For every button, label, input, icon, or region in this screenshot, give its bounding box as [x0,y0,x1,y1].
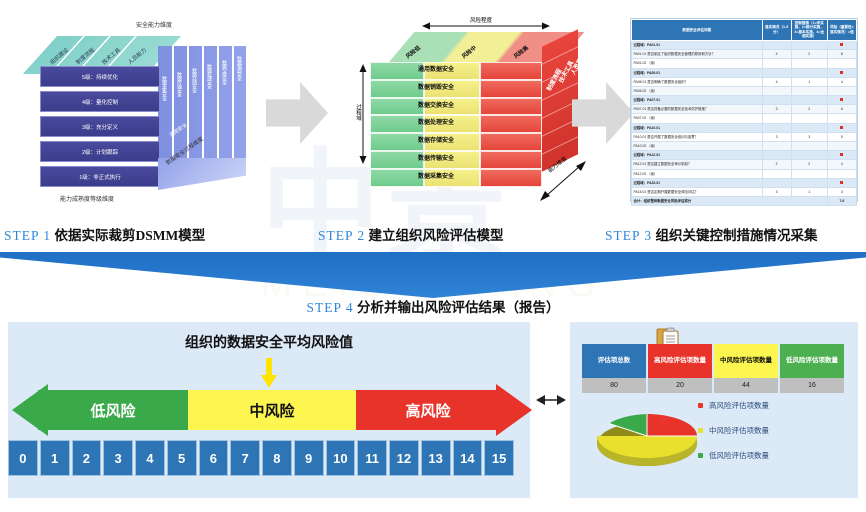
dsmm-bottom-caption: 能力成熟度等级维度 [60,194,114,203]
risk-flag-icon [840,98,843,101]
assessment-item-row[interactable]: PA07.01 是否具备必要的数据安全技术防护措施？326 [632,105,857,114]
assessment-cell-c2: 1 [791,77,827,86]
assessment-cell-c1: 2 [762,160,791,169]
assessment-cell-c2 [791,142,827,151]
risk-cube-row [370,169,542,187]
risk-cube-row [370,115,542,133]
assessment-cell-c3 [827,68,856,77]
assessment-cell-c2: 2 [791,50,827,59]
assessment-cell-c1 [762,114,791,123]
stat-box-value-3: 16 [780,378,844,393]
stat-box-label-1: 高风险评估项数量 [648,344,712,378]
assessment-item-row[interactable]: PA05.02 （续） [632,86,857,95]
risk-scale-cell-15[interactable]: 15 [484,440,514,476]
slide-root: 中景 MEIQIHUANG 安全能力维度 组织建设 制度流程 技术工具 人员能力… [0,0,866,512]
stat-box-0[interactable]: 评估项总数80 [582,344,646,393]
assessment-footer-value: 7.6 [827,197,856,206]
assessment-cell-c1 [762,142,791,151]
stat-boxes-row: 评估项总数80高风险评估项数量20中风险评估项数量44低风险评估项数量16 [582,344,846,393]
assessment-cell-question: PA10.01 是否开展了数据安全培训与宣贯？ [632,132,763,141]
dsmm-process-dim-2: 数据存储安全 [191,68,198,92]
legend-item-1[interactable]: 中风险评估项数量 [698,425,769,436]
assessment-item-row[interactable]: PA01.01 是否制定了组织数据安全管理的原则和方针？428 [632,50,857,59]
assessment-cell-question: 过程域：PA01.01 [632,40,763,49]
assessment-item-row[interactable]: PA10.01 是否开展了数据安全培训与宣贯？339 [632,132,857,141]
assessment-cell-c2 [791,96,827,105]
assessment-cell-c3 [827,142,856,151]
assessment-cell-c2: 2 [791,105,827,114]
risk-scale-cell-4[interactable]: 4 [135,440,165,476]
assessment-cell-c1 [762,123,791,132]
risk-distribution-panel: 评估项总数80高风险评估项数量20中风险评估项数量44低风险评估项数量16 高风… [570,322,858,498]
assessment-cell-question: 过程域：PA12.01 [632,151,763,160]
assessment-cell-c2 [791,68,827,77]
assessment-col-question: 数据安全评估问题 [632,20,763,41]
risk-scale-cell-1[interactable]: 1 [40,440,70,476]
assessment-cell-c1: 3 [762,132,791,141]
risk-cube-row-label-5: 数据传输安全 [418,151,454,169]
assessment-col-risk: 风险（重要性×落实情况）=值 [827,20,856,41]
assessment-cell-c3: 3 [827,187,856,196]
legend-item-0[interactable]: 高风险评估项数量 [698,400,769,411]
risk-cube-row [370,80,542,98]
assessment-cell-c1: 4 [762,50,791,59]
assessment-cell-question: PA05.01 是否明确了数据安全组织？ [632,77,763,86]
risk-flag-icon [840,126,843,129]
step-3-text: 组织关键控制措施情况采集 [656,228,818,243]
assessment-cell-question: PA05.02 （续） [632,86,763,95]
step-labels-row: STEP 1 依据实际裁剪DSMM模型 STEP 2 建立组织风险评估模型 ST… [0,224,866,250]
stat-box-label-3: 低风险评估项数量 [780,344,844,378]
assessment-table-header-row: 数据安全评估问题 落实情况（1-5分） 控制措施（1=未实施，2=部分实施，3=… [632,20,857,41]
assessment-cell-question: PA12.01 是否建立数据安全审计机制？ [632,160,763,169]
risk-cube-depth-axis: 能力维度 [538,158,588,204]
dsmm-level-4: 4级：量化控制 [40,91,160,112]
risk-band-high: 高风险 [356,390,500,430]
legend-swatch-icon [698,428,703,433]
assessment-cell-question: 过程域：PA10.01 [632,123,763,132]
step-label-4: STEP 4 分析并输出风险评估结果（报告） [306,296,559,316]
stat-box-value-0: 80 [582,378,646,393]
legend-swatch-icon [698,403,703,408]
assessment-cell-c3: 4 [827,77,856,86]
assessment-cell-c2 [791,151,827,160]
stat-box-3[interactable]: 低风险评估项数量16 [780,344,844,393]
risk-scale-cell-0[interactable]: 0 [8,440,38,476]
assessment-cell-c1 [762,40,791,49]
legend-swatch-icon [698,453,703,458]
section-divider-chevron [0,252,866,298]
assessment-col-importance: 落实情况（1-5分） [762,20,791,41]
assessment-table-footer-row: 合计：组织整体数据安全风险评估得分 7.6 [632,197,857,206]
risk-scale-cell-7[interactable]: 7 [230,440,260,476]
risk-scale-cell-12[interactable]: 12 [389,440,419,476]
assessment-cell-c3 [827,178,856,187]
stat-box-label-0: 评估项总数 [582,344,646,378]
step-3-keyword: STEP 3 [605,228,652,243]
assessment-col-control: 控制措施（1=未实施，2=部分实施，3=基本实施，4=全面实施） [791,20,827,41]
dsmm-process-dim-3: 数据处理安全 [206,64,213,88]
legend-label-1: 中风险评估项数量 [709,425,769,436]
dsmm-process-dim-0: 数据采集安全 [161,76,168,100]
stat-box-value-1: 20 [648,378,712,393]
risk-flag-icon [840,153,843,156]
assessment-cell-c3 [827,96,856,105]
assessment-item-row[interactable]: PA12.02 （续） [632,169,857,178]
stat-box-1[interactable]: 高风险评估项数量20 [648,344,712,393]
risk-scale-cell-6[interactable]: 6 [199,440,229,476]
risk-flag-icon [840,43,843,46]
assessment-item-row[interactable]: PA05.01 是否明确了数据安全组织？414 [632,77,857,86]
assessment-item-row[interactable]: PA01.02 （续） [632,59,857,68]
risk-cube-diagram: 风险程度 过程域 风险低 风险中 风险高 [352,8,582,208]
step-2-text: 建立组织风险评估模型 [369,228,504,243]
dsmm-level-3: 3级：充分定义 [40,116,160,137]
risk-pie-chart [588,394,706,474]
step-label-1: STEP 1 依据实际裁剪DSMM模型 [4,224,205,244]
assessment-cell-c2 [791,123,827,132]
high-risk-arrow-head-icon [496,384,532,436]
stat-box-value-2: 44 [714,378,778,393]
stat-box-2[interactable]: 中风险评估项数量44 [714,344,778,393]
dsmm-level-2: 2级：计划跟踪 [40,141,160,162]
assessment-cell-c3 [827,151,856,160]
risk-scale-cell-13[interactable]: 13 [421,440,451,476]
assessment-cell-c3 [827,114,856,123]
assessment-cell-c1 [762,151,791,160]
risk-cube-row [370,151,542,169]
dsmm-process-dim-1: 数据传输安全 [176,72,183,96]
dsmm-top-caption: 安全能力维度 [136,20,172,29]
risk-cube-row-label-2: 数据交换安全 [418,98,454,116]
step-2-keyword: STEP 2 [318,228,365,243]
risk-cube-front-face: 通用数据安全 数据销毁安全 数据交换安全 数据处理安全 数据存储安全 数据传输安… [370,62,542,187]
assessment-cell-question: PA15.01 是否定期开展数据安全风险评估？ [632,187,763,196]
risk-pie-legend: 高风险评估项数量中风险评估项数量低风险评估项数量 [698,400,769,475]
risk-scale-cell-11[interactable]: 11 [357,440,387,476]
legend-label-0: 高风险评估项数量 [709,400,769,411]
assessment-cell-question: PA07.01 是否具备必要的数据安全技术防护措施？ [632,105,763,114]
assessment-table-panel[interactable]: 数据安全评估问题 落实情况（1-5分） 控制措施（1=未实施，2=部分实施，3=… [630,18,858,202]
assessment-item-row[interactable]: PA10.02 （续） [632,142,857,151]
risk-scale-row[interactable]: 0123456789101112131415 [8,440,514,476]
legend-label-2: 低风险评估项数量 [709,450,769,461]
assessment-cell-c1 [762,169,791,178]
assessment-cell-c1 [762,178,791,187]
risk-cube-row-label-6: 数据采集安全 [418,169,454,187]
assessment-cell-c1: 3 [762,105,791,114]
assessment-cell-c3 [827,40,856,49]
assessment-footer-label: 合计：组织整体数据安全风险评估得分 [632,197,828,206]
assessment-cell-c2 [791,178,827,187]
assessment-cell-c2 [791,169,827,178]
risk-scale-cell-9[interactable]: 9 [294,440,324,476]
dsmm-process-dim-4: 数据交换安全 [221,60,228,84]
assessment-cell-c3 [827,169,856,178]
dsmm-level-1: 1级：非正式执行 [40,166,160,187]
assessment-cell-question: PA07.02 （续） [632,114,763,123]
risk-cube-top-axis-label: 风险程度 [468,16,494,24]
step-label-3: STEP 3 组织关键控制措施情况采集 [605,224,818,244]
dsmm-cube-diagram: 安全能力维度 组织建设 制度流程 技术工具 人员能力 数据采集安全 数据传输安全… [18,8,258,208]
assessment-cell-c1: 4 [762,77,791,86]
risk-band-mid: 中风险 [188,390,356,430]
assessment-item-row[interactable]: PA07.02 （续） [632,114,857,123]
dsmm-level-5: 5级：持续优化 [40,66,160,87]
risk-cube-row-label-1: 数据销毁安全 [418,80,454,98]
risk-scale-cell-2[interactable]: 2 [72,440,102,476]
legend-item-2[interactable]: 低风险评估项数量 [698,450,769,461]
step-labels-row-2: STEP 4 分析并输出风险评估结果（报告） [0,296,866,317]
assessment-cell-c2: 3 [791,132,827,141]
assessment-group-row[interactable]: 过程域：PA05.01 [632,68,857,77]
risk-flag-icon [840,181,843,184]
assessment-cell-question: PA01.02 （续） [632,59,763,68]
assessment-cell-question: 过程域：PA15.01 [632,178,763,187]
assessment-cell-c3: 8 [827,50,856,59]
assessment-cell-question: 过程域：PA05.01 [632,68,763,77]
assessment-group-row[interactable]: 过程域：PA07.01 [632,96,857,105]
assessment-group-row[interactable]: 过程域：PA12.01 [632,151,857,160]
assessment-cell-c3 [827,86,856,95]
assessment-item-row[interactable]: PA15.01 是否定期开展数据安全风险评估？313 [632,187,857,196]
stat-box-label-2: 中风险评估项数量 [714,344,778,378]
panel-link-arrow-icon [536,392,566,408]
step-4-text: 分析并输出风险评估结果（报告） [357,300,560,315]
assessment-cell-question: 过程域：PA07.01 [632,96,763,105]
step-1-keyword: STEP 1 [4,228,51,243]
assessment-group-row[interactable]: 过程域：PA15.01 [632,178,857,187]
risk-cube-row-label-4: 数据存储安全 [418,133,454,151]
risk-cube-row-label-3: 数据处理安全 [418,115,454,133]
average-risk-title: 组织的数据安全平均风险值 [8,332,530,352]
risk-cube-top-axis: 风险程度 [422,18,550,28]
flow-arrow-1-icon [266,82,328,144]
risk-cube-left-axis-label: 过程域 [354,102,362,123]
assessment-cell-c1 [762,96,791,105]
assessment-cell-c2: 1 [791,187,827,196]
assessment-item-row[interactable]: PA12.01 是否建立数据安全审计机制？224 [632,160,857,169]
assessment-cell-c3 [827,123,856,132]
dsmm-process-dim-5: 数据销毁安全 [236,56,243,80]
assessment-cell-c2 [791,59,827,68]
assessment-cell-c1 [762,68,791,77]
assessment-cell-c2 [791,86,827,95]
assessment-cell-c2: 2 [791,160,827,169]
assessment-cell-question: PA12.02 （续） [632,169,763,178]
risk-scale-cell-5[interactable]: 5 [167,440,197,476]
assessment-cell-question: PA10.02 （续） [632,142,763,151]
risk-cube-row [370,62,542,80]
assessment-table-body: 过程域：PA01.01PA01.01 是否制定了组织数据安全管理的原则和方针？4… [632,40,857,196]
assessment-cell-c3: 6 [827,105,856,114]
step-4-keyword: STEP 4 [306,300,353,315]
assessment-cell-c1: 3 [762,187,791,196]
average-risk-pointer-icon [261,358,277,388]
step-label-2: STEP 2 建立组织风险评估模型 [318,224,504,244]
assessment-group-row[interactable]: 过程域：PA10.01 [632,123,857,132]
risk-band-low: 低风险 [38,390,188,430]
risk-cube-row-label-0: 通用数据安全 [418,62,454,80]
step-1-text: 依据实际裁剪DSMM模型 [55,228,206,243]
assessment-table: 数据安全评估问题 落实情况（1-5分） 控制措施（1=未实施，2=部分实施，3=… [631,19,857,206]
assessment-cell-c2 [791,40,827,49]
risk-cube-row [370,98,542,116]
assessment-cell-c3: 9 [827,132,856,141]
assessment-cell-c2 [791,114,827,123]
risk-scale-cell-10[interactable]: 10 [326,440,356,476]
risk-scale-cell-14[interactable]: 14 [453,440,483,476]
assessment-cell-c3: 4 [827,160,856,169]
assessment-group-row[interactable]: 过程域：PA01.01 [632,40,857,49]
dsmm-maturity-levels: 5级：持续优化 4级：量化控制 3级：充分定义 2级：计划跟踪 1级：非正式执行 [40,66,158,188]
risk-cube-row [370,133,542,151]
risk-scale-cell-8[interactable]: 8 [262,440,292,476]
risk-band: 低风险 中风险 高风险 [38,390,500,430]
risk-cube-left-axis: 过程域 [358,64,368,164]
assessment-cell-question: PA01.01 是否制定了组织数据安全管理的原则和方针？ [632,50,763,59]
assessment-cell-c3 [827,59,856,68]
assessment-cell-c1 [762,86,791,95]
risk-scale-cell-3[interactable]: 3 [103,440,133,476]
top-zone: 安全能力维度 组织建设 制度流程 技术工具 人员能力 数据采集安全 数据传输安全… [0,0,866,250]
risk-flag-icon [840,71,843,74]
assessment-cell-c1 [762,59,791,68]
